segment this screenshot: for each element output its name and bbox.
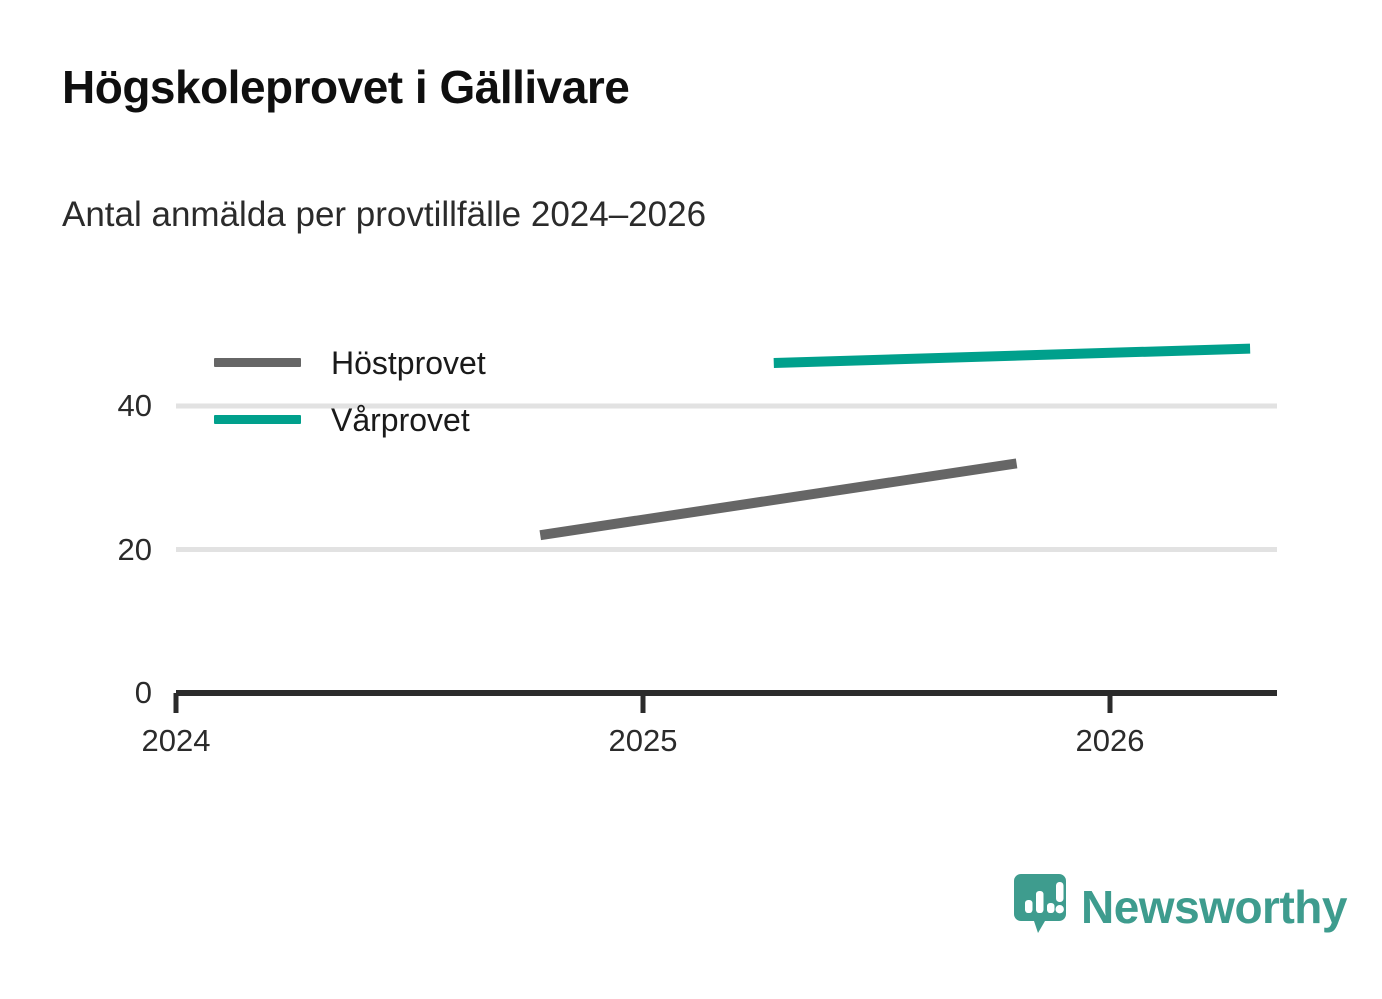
chart-legend: HöstprovetVårprovet <box>214 334 486 448</box>
newsworthy-logo[interactable]: Newsworthy <box>1013 873 1347 940</box>
series-line-1 <box>774 349 1250 363</box>
line-chart-svg <box>0 0 1382 999</box>
x-axis-tick-label: 2025 <box>543 725 743 756</box>
y-axis-tick-label: 0 <box>0 677 152 708</box>
newsworthy-bubble-chart-icon <box>1013 873 1067 940</box>
newsworthy-wordmark: Newsworthy <box>1081 884 1347 930</box>
plot-area: 02040 202420252026 <box>0 0 1382 999</box>
legend-label: Vårprovet <box>331 404 470 436</box>
x-axis-tick-label: 2026 <box>1010 725 1210 756</box>
x-axis-tick-label: 2024 <box>76 725 276 756</box>
legend-item[interactable]: Vårprovet <box>214 391 486 448</box>
legend-label: Höstprovet <box>331 347 486 379</box>
chart-page: Högskoleprovet i Gällivare Antal anmälda… <box>0 0 1382 999</box>
series-line-0 <box>540 463 1016 535</box>
series-lines <box>540 349 1250 536</box>
legend-swatch <box>214 415 301 424</box>
y-axis-tick-label: 40 <box>0 390 152 421</box>
y-axis-tick-label: 20 <box>0 534 152 565</box>
legend-swatch <box>214 358 301 367</box>
legend-item[interactable]: Höstprovet <box>214 334 486 391</box>
